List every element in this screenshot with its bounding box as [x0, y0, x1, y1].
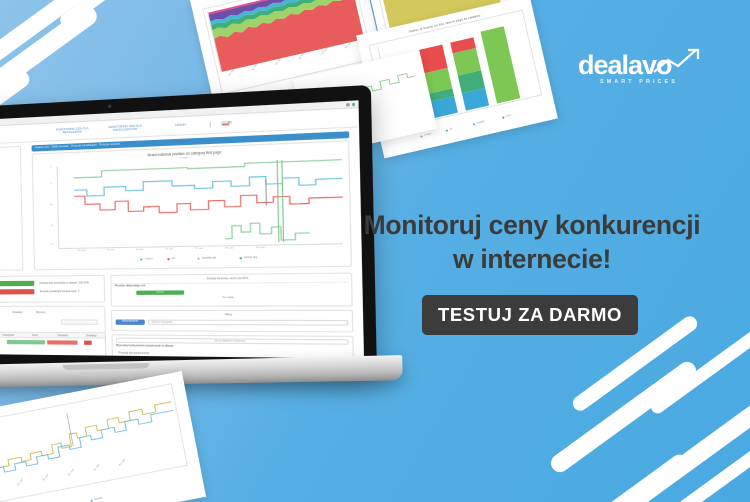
sidebar-checkbox[interactable]: Prowizji dla konkurentów [118, 351, 149, 355]
sidebar-panel-filters: Filtruj Wyszukiwanie Wybierz kategorię [111, 310, 353, 333]
progress-bar-split: 38.33% 3.83% 59.58% [0, 289, 34, 295]
column-header[interactable]: Ceny [32, 334, 38, 337]
pagination[interactable] [61, 319, 98, 324]
filter-chip[interactable]: Dostawy [13, 311, 23, 314]
bar-note-competitors: Średnia rywalizacji konkurentów: 3 [40, 290, 80, 293]
category-dropdown[interactable]: Wybierz kategorię [148, 320, 348, 326]
bar-note-availability: Dostępność produktów w sklepie: 100.00% [40, 281, 89, 285]
sidebar-title: Dotacji hurtowej, cenie pro RLS [111, 275, 351, 280]
laptop-mockup: dealavo MONITORING CEN DLA RETAILERÓW MO… [0, 112, 352, 397]
filter-chip[interactable]: Wyceny [36, 311, 46, 314]
headline-line-2: w internecie! [342, 242, 722, 276]
position-line-chart [59, 155, 344, 248]
laptop-notch [63, 362, 150, 369]
bar-segment: 100 / 100 [0, 281, 34, 288]
page-headline: Monitoruj ceny konkurencji w internecie! [342, 208, 722, 276]
column-header[interactable]: Dostawy [86, 335, 97, 338]
browser-indicators [340, 103, 355, 107]
headline-line-1: Monitoruj ceny konkurencji [342, 208, 722, 242]
progress-bar-total: 100 / 100 [0, 281, 34, 288]
breadcrumb-text: Analizy cen · Siatki cenowe · Pozycje na… [35, 143, 120, 150]
laptop-lid: dealavo MONITORING CEN DLA RETAILERÓW MO… [0, 85, 377, 378]
dealavo-logo[interactable]: dealavo SMART PRICES [578, 50, 708, 92]
pie-chart-title: Brands on first search page domination -… [0, 150, 20, 162]
nav-item-producers[interactable]: MONITORING CEN DLA PRODUCENTÓW [100, 123, 152, 133]
sidebar-filter-label: Filtruj [112, 313, 352, 316]
pie-legend: rtveuro mediaexpert x-kom morele.net kom… [0, 262, 18, 268]
column-header[interactable]: Kategoria [2, 334, 13, 337]
sidebar-search-input[interactable]: Wyszukiwanie indeksowe [116, 338, 349, 345]
apply-filter-button[interactable]: Wyszukiwanie [116, 320, 145, 325]
decorative-stripes-bottom-right [570, 362, 750, 502]
table-row[interactable] [0, 338, 105, 345]
progress-bars-card: 100 / 100 Dostępność produktów w sklepie… [0, 275, 105, 303]
bar-segment: 59.58% [0, 289, 34, 295]
table-header-row: Konkurent Marki Zdjęcie Kategoria Ceny D… [0, 331, 105, 339]
sidebar-progress-bar: 100.00 [136, 290, 184, 295]
nav-language-label[interactable]: PL [228, 120, 245, 125]
logo-tagline: SMART PRICES [600, 79, 678, 85]
filters-table-card: Zdjęcie Marki Kategoria Retailerzy Ceny … [0, 306, 107, 359]
sidebar-panel-label: Prestiżu sklepowego cen [115, 285, 146, 287]
nav-item-pricing[interactable]: CENNIK [154, 122, 207, 128]
growth-arrow-icon [652, 48, 704, 76]
dealavo-dashboard: dealavo MONITORING CEN DLA RETAILERÓW MO… [0, 100, 364, 358]
webcam-icon [108, 105, 111, 108]
line-chart-card: Brand national position on category firs… [32, 140, 352, 270]
pie-chart-card: Brands on first search page domination -… [0, 146, 23, 273]
nav-item-retailers[interactable]: MONITORING CEN DLA RETAILERÓW [47, 126, 97, 136]
cta-button[interactable]: TESTUJ ZA DARMO [422, 295, 638, 335]
sidebar-details-link[interactable]: Szczegóły [112, 296, 352, 299]
sidebar-section-title: Wyszukaj konkurentów ustawionych w sklep… [116, 345, 173, 348]
sidebar-panel-pricing: Dotacji hurtowej, cenie pro RLS Prestiżu… [110, 273, 353, 307]
marketing-banner: Brands share on first search page domina… [0, 0, 750, 502]
column-header[interactable]: Dostawy [58, 334, 68, 337]
laptop-screen: dealavo MONITORING CEN DLA RETAILERÓW MO… [0, 100, 364, 358]
sidebar-panel-search: Wyszukiwanie indeksowe Wyszukaj konkuren… [111, 334, 354, 358]
